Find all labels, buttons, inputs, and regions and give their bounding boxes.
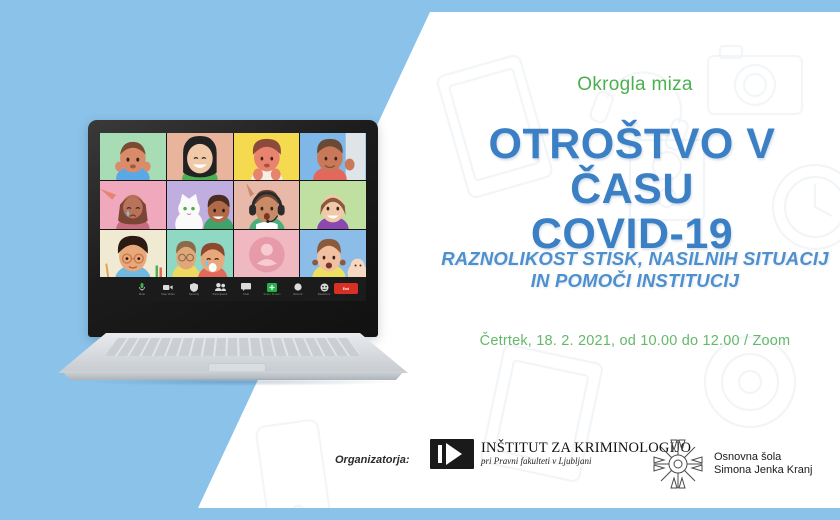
toolbar-button-record[interactable]: Record	[285, 283, 311, 296]
toolbar-button-stop-video[interactable]: Stop Video	[155, 283, 181, 296]
laptop-illustration: Mute Stop Video Security	[58, 120, 408, 390]
reactions-icon	[319, 283, 330, 292]
microphone-icon	[137, 283, 148, 292]
participant-tile[interactable]	[234, 181, 300, 228]
share-screen-icon	[267, 283, 278, 292]
record-icon	[293, 283, 304, 292]
participant-tile[interactable]	[100, 230, 166, 277]
default-avatar-icon	[234, 230, 300, 277]
participant-tile[interactable]	[300, 133, 366, 180]
participant-avatar	[234, 133, 300, 180]
page-title: OTROŠTVO V ČASU COVID-19	[422, 122, 840, 257]
laptop-trackpad	[208, 363, 266, 372]
toolbar-label: Share Screen	[263, 293, 280, 296]
participant-tile[interactable]	[167, 181, 233, 228]
participant-avatar	[100, 181, 166, 228]
school-emblem-icon	[650, 436, 706, 492]
bottom-accent-strip	[0, 508, 840, 520]
participant-tile[interactable]	[300, 230, 366, 277]
page-subtitle: RAZNOLIKOST STISK, NASILNIH SITUACIJ IN …	[430, 248, 840, 292]
toolbar-label: Participants	[213, 293, 228, 296]
laptop-lid: Mute Stop Video Security	[88, 120, 378, 337]
participant-avatar	[300, 181, 366, 228]
poster-canvas: Mute Stop Video Security	[0, 0, 840, 520]
end-button-label: End	[343, 287, 349, 291]
participant-avatar	[167, 181, 233, 228]
ik-logo-mark	[430, 439, 474, 469]
top-accent-strip	[0, 0, 840, 12]
toolbar-label: Stop Video	[161, 293, 175, 296]
toolbar-button-share-screen[interactable]: Share Screen	[259, 283, 285, 296]
zoom-toolbar: Mute Stop Video Security	[100, 277, 366, 301]
laptop-screen: Mute Stop Video Security	[100, 133, 366, 301]
video-call-grid	[100, 133, 366, 277]
toolbar-button-mute[interactable]: Mute	[129, 283, 155, 296]
participant-avatar	[300, 230, 366, 277]
chat-icon	[241, 283, 252, 292]
footer: Organizatorja: INŠTITUT ZA KRIMINOLOGIJO…	[0, 432, 840, 492]
subtitle-line-1: RAZNOLIKOST STISK, NASILNIH SITUACIJ	[441, 248, 829, 269]
participant-tile[interactable]	[100, 133, 166, 180]
toolbar-label: Security	[189, 293, 199, 296]
shield-icon	[189, 283, 200, 292]
participants-icon	[215, 283, 226, 292]
participant-tile[interactable]	[300, 181, 366, 228]
participant-avatar	[100, 133, 166, 180]
event-datetime: Četrtek, 18. 2. 2021, od 10.00 do 12.00 …	[430, 333, 840, 349]
participant-avatar	[167, 230, 233, 277]
organizers-label: Organizatorja:	[335, 454, 410, 466]
subtitle-line-2: IN POMOČI INSTITUCIJ	[531, 270, 740, 291]
laptop-keyboard	[105, 338, 361, 356]
end-meeting-button[interactable]: End	[334, 283, 358, 294]
participant-avatar	[234, 181, 300, 228]
event-type-label: Okrogla miza	[430, 74, 840, 96]
title-line-1: OTROŠTVO V ČASU	[489, 120, 776, 213]
toolbar-label: Record	[294, 293, 303, 296]
video-camera-icon	[163, 283, 174, 292]
toolbar-button-chat[interactable]: Chat	[233, 283, 259, 296]
participant-tile[interactable]	[167, 230, 233, 277]
toolbar-label: Chat	[243, 293, 249, 296]
toolbar-button-participants[interactable]: Participants	[207, 283, 233, 296]
participant-avatar	[100, 230, 166, 277]
logo-osnovna-sola: Osnovna šola Simona Jenka Kranj	[650, 436, 812, 492]
school-name-line-1: Osnovna šola	[714, 451, 812, 465]
participant-avatar	[167, 133, 233, 180]
laptop-shadow	[78, 378, 398, 386]
toolbar-label: Reactions	[318, 293, 330, 296]
participant-tile[interactable]	[167, 133, 233, 180]
school-name-line-2: Simona Jenka Kranj	[714, 464, 812, 478]
toolbar-label: Mute	[139, 293, 145, 296]
participant-tile[interactable]	[100, 181, 166, 228]
participant-tile-placeholder[interactable]	[234, 230, 300, 277]
participant-avatar	[300, 133, 366, 180]
participant-tile[interactable]	[234, 133, 300, 180]
toolbar-button-security[interactable]: Security	[181, 283, 207, 296]
school-logo-text: Osnovna šola Simona Jenka Kranj	[714, 451, 812, 478]
